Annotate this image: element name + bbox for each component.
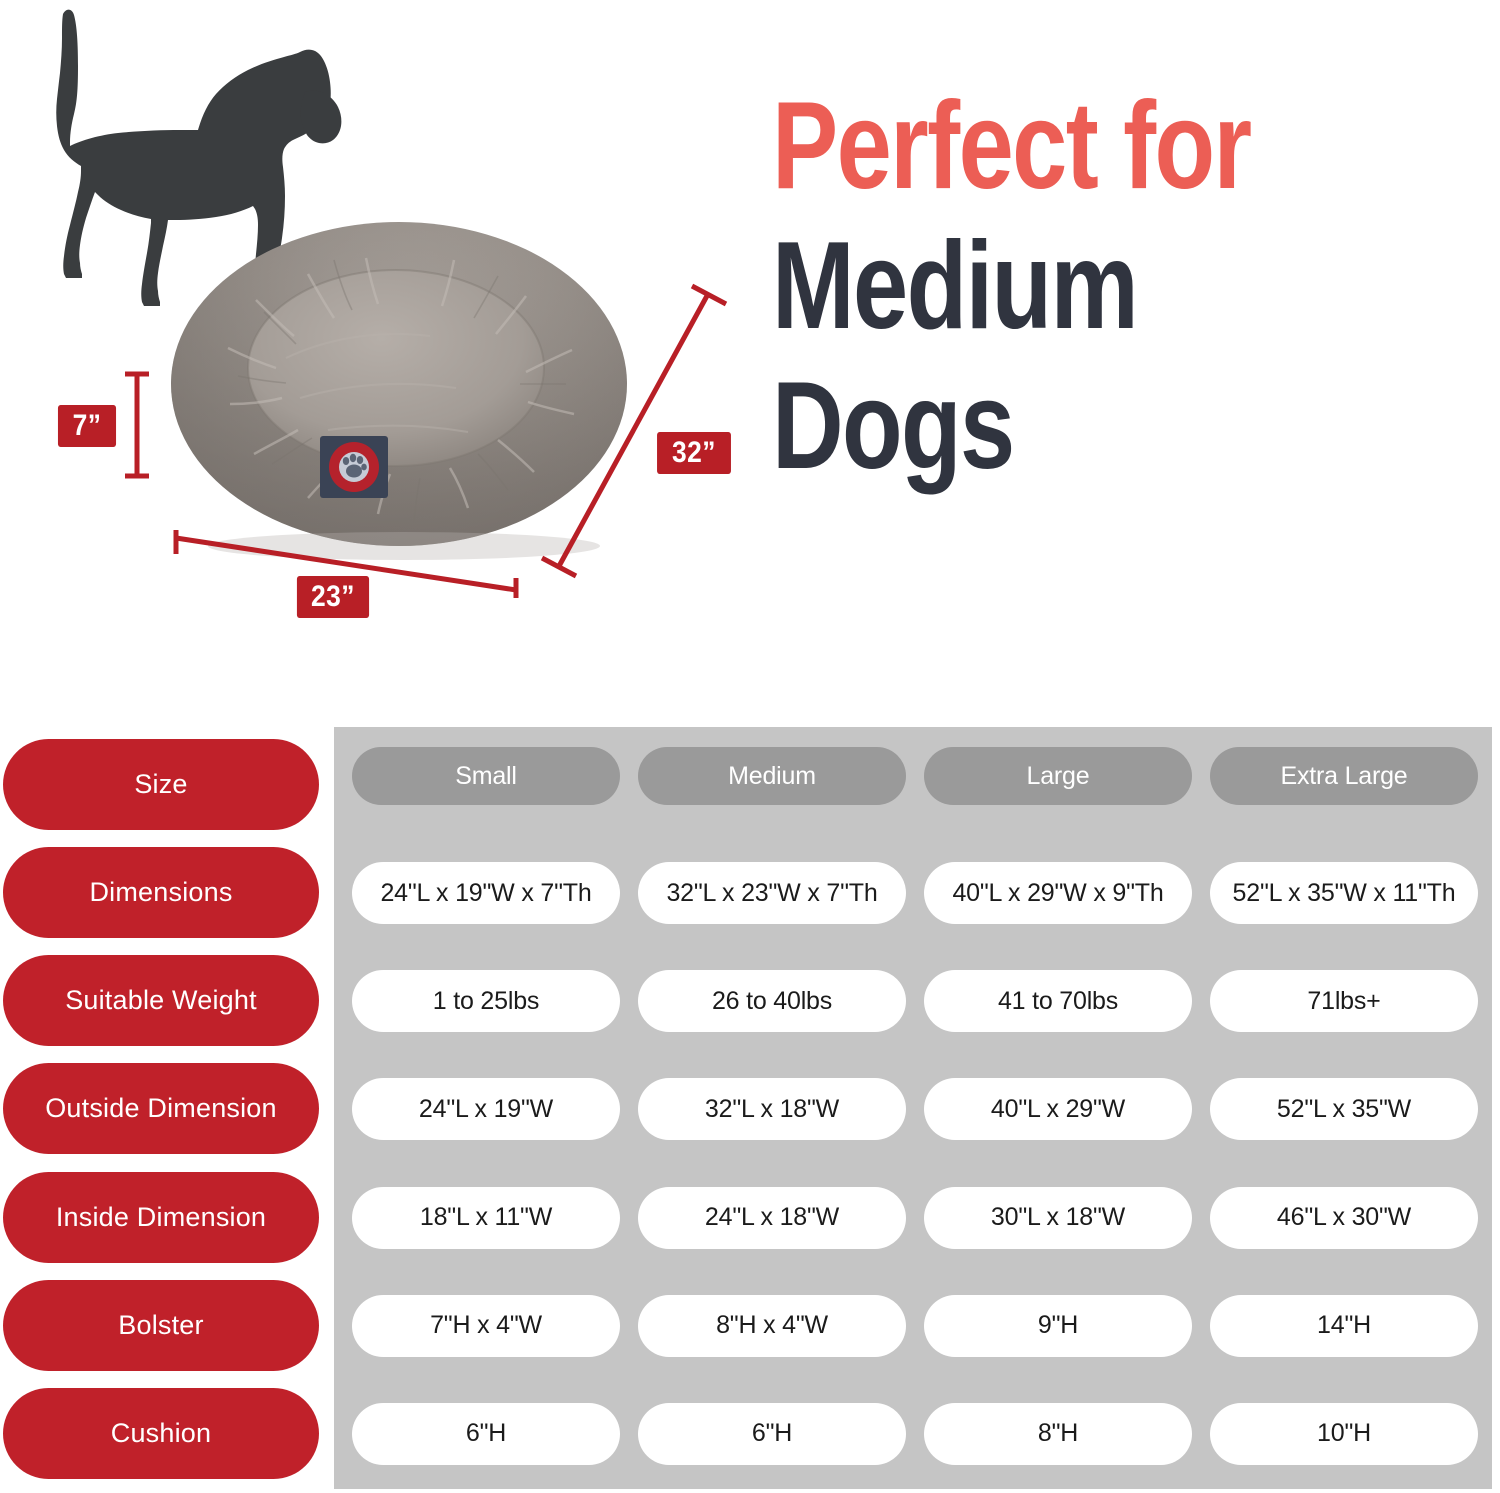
- cell-inside-extra-large: 46"L x 30"W: [1210, 1187, 1478, 1249]
- row-label-size: Size: [3, 739, 319, 830]
- height-callout-badge: 7”: [58, 405, 116, 447]
- column-header-medium: Medium: [638, 747, 906, 805]
- row-label-outside-dimension: Outside Dimension: [3, 1063, 319, 1154]
- cell-inside-small: 18"L x 11"W: [352, 1187, 620, 1249]
- table-row: 1 to 25lbs 26 to 40lbs 41 to 70lbs 71lbs…: [352, 955, 1478, 1046]
- cell-bolster-medium: 8"H x 4"W: [638, 1295, 906, 1357]
- column-header-large: Large: [924, 747, 1192, 805]
- cell-cushion-large: 8"H: [924, 1403, 1192, 1465]
- headline-line-1: Perfect for: [772, 88, 1345, 206]
- cell-cushion-medium: 6"H: [638, 1403, 906, 1465]
- cell-bolster-large: 9"H: [924, 1295, 1192, 1357]
- headline: Perfect for Medium Dogs: [772, 88, 1488, 485]
- product-infographic: 7” 23” 32” Perfect for Medium Dogs Size …: [0, 0, 1500, 1493]
- table-row: 18"L x 11"W 24"L x 18"W 30"L x 18"W 46"L…: [352, 1172, 1478, 1263]
- table-row: 6"H 6"H 8"H 10"H: [352, 1388, 1478, 1479]
- cell-weight-large: 41 to 70lbs: [924, 970, 1192, 1032]
- hero-section: 7” 23” 32” Perfect for Medium Dogs: [0, 0, 1500, 700]
- row-label-inside-dimension: Inside Dimension: [3, 1172, 319, 1263]
- headline-line-2: Medium: [772, 228, 1345, 346]
- column-header-extra-large: Extra Large: [1210, 747, 1478, 805]
- table-row: Small Medium Large Extra Large: [352, 739, 1478, 830]
- depth-measure-line: [536, 280, 736, 580]
- cell-dimensions-medium: 32"L x 23"W x 7"Th: [638, 862, 906, 924]
- column-header-small: Small: [352, 747, 620, 805]
- cell-weight-small: 1 to 25lbs: [352, 970, 620, 1032]
- depth-callout-badge: 32”: [657, 432, 731, 474]
- row-label-dimensions: Dimensions: [3, 847, 319, 938]
- spec-table: Size Dimensions Suitable Weight Outside …: [0, 727, 1500, 1489]
- table-row: 7"H x 4"W 8"H x 4"W 9"H 14"H: [352, 1280, 1478, 1371]
- cell-outside-small: 24"L x 19"W: [352, 1078, 620, 1140]
- table-row: 24"L x 19"W x 7"Th 32"L x 23"W x 7"Th 40…: [352, 847, 1478, 938]
- spec-row-label-column: Size Dimensions Suitable Weight Outside …: [3, 739, 319, 1479]
- cell-bolster-small: 7"H x 4"W: [352, 1295, 620, 1357]
- cell-outside-medium: 32"L x 18"W: [638, 1078, 906, 1140]
- cell-outside-large: 40"L x 29"W: [924, 1078, 1192, 1140]
- table-row: 24"L x 19"W 32"L x 18"W 40"L x 29"W 52"L…: [352, 1063, 1478, 1154]
- cell-cushion-extra-large: 10"H: [1210, 1403, 1478, 1465]
- cell-dimensions-large: 40"L x 29"W x 9"Th: [924, 862, 1192, 924]
- cell-weight-medium: 26 to 40lbs: [638, 970, 906, 1032]
- brand-tag: [320, 436, 388, 498]
- row-label-bolster: Bolster: [3, 1280, 319, 1371]
- spec-value-grid: Small Medium Large Extra Large 24"L x 19…: [352, 739, 1478, 1479]
- cell-weight-extra-large: 71lbs+: [1210, 970, 1478, 1032]
- cell-bolster-extra-large: 14"H: [1210, 1295, 1478, 1357]
- width-callout-badge: 23”: [297, 576, 369, 618]
- headline-line-3: Dogs: [772, 368, 1345, 486]
- cell-dimensions-small: 24"L x 19"W x 7"Th: [352, 862, 620, 924]
- cell-inside-large: 30"L x 18"W: [924, 1187, 1192, 1249]
- row-label-cushion: Cushion: [3, 1388, 319, 1479]
- cell-inside-medium: 24"L x 18"W: [638, 1187, 906, 1249]
- cell-cushion-small: 6"H: [352, 1403, 620, 1465]
- row-label-suitable-weight: Suitable Weight: [3, 955, 319, 1046]
- cell-outside-extra-large: 52"L x 35"W: [1210, 1078, 1478, 1140]
- height-measure-line: [122, 370, 152, 480]
- cell-dimensions-extra-large: 52"L x 35"W x 11"Th: [1210, 862, 1478, 924]
